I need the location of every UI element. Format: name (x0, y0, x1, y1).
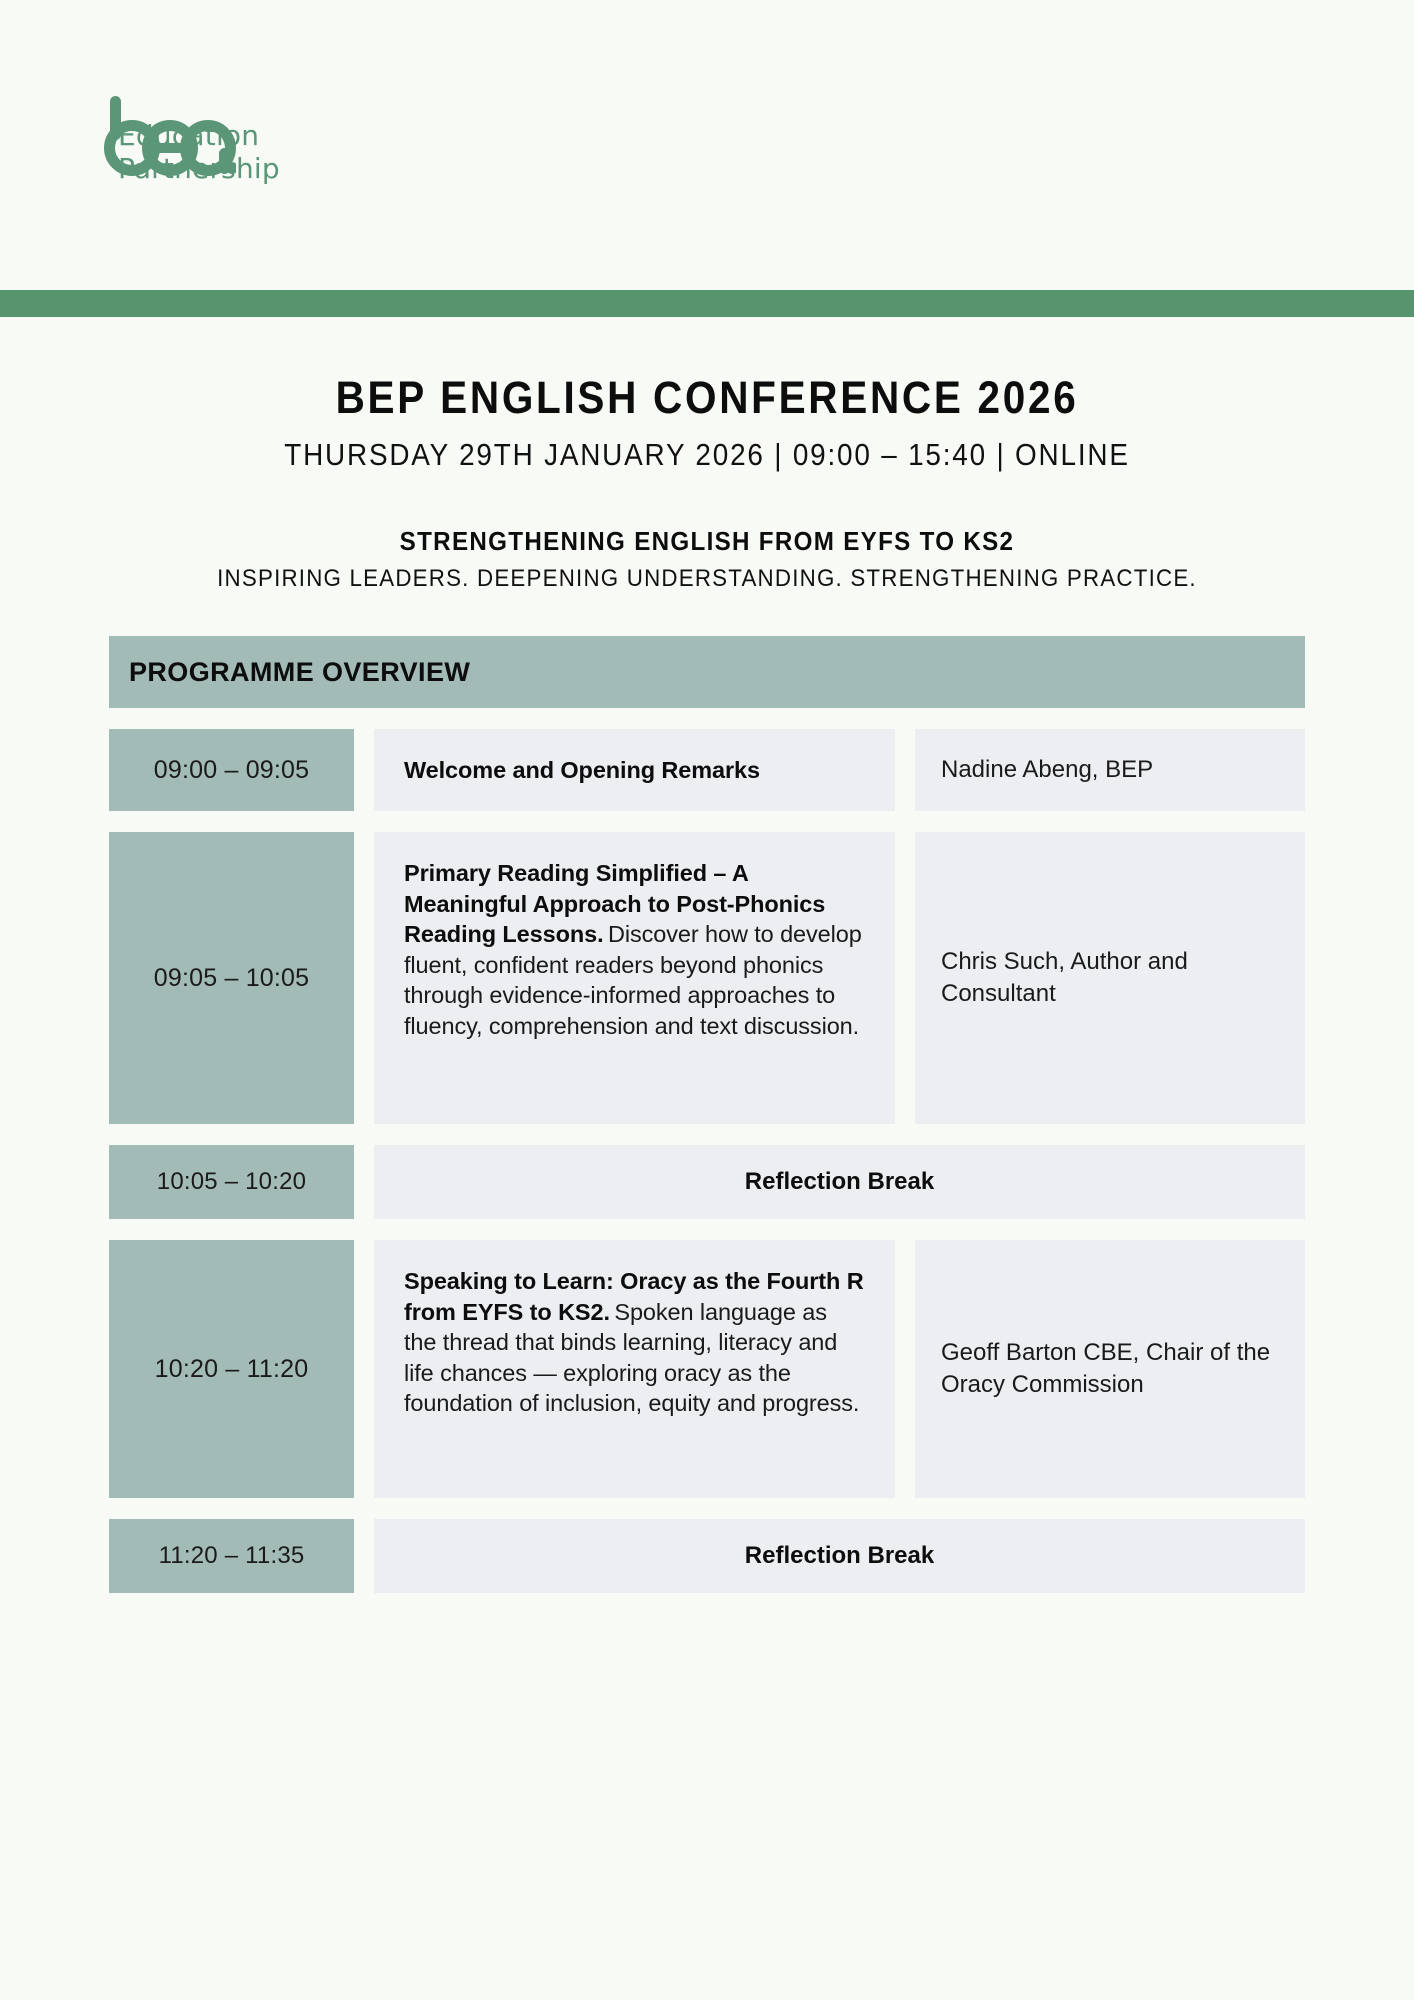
brand-wordmark: Education Partnership (118, 94, 280, 185)
row-session: Welcome and Opening Remarks (374, 729, 895, 811)
logo-header: Education Partnership (0, 0, 1414, 290)
speaker-name: Geoff Barton CBE, Chair of the Oracy Com… (941, 1337, 1279, 1401)
conference-datetime: THURSDAY 29TH JANUARY 2026 | 09:00 – 15:… (71, 437, 1344, 473)
table-row: 09:05 – 10:05 Primary Reading Simplified… (109, 832, 1305, 1124)
row-speaker: Geoff Barton CBE, Chair of the Oracy Com… (915, 1240, 1305, 1498)
programme-overview-label: PROGRAMME OVERVIEW (129, 657, 470, 688)
brand-logo: Education Partnership (104, 94, 1414, 185)
table-row: 10:20 – 11:20 Speaking to Learn: Oracy a… (109, 1240, 1305, 1498)
break-label: Reflection Break (374, 1145, 1305, 1219)
row-speaker: Chris Such, Author and Consultant (915, 832, 1305, 1124)
theme-headline: STRENGTHENING ENGLISH FROM EYFS TO KS2 (49, 526, 1364, 557)
speaker-name: Chris Such, Author and Consultant (941, 946, 1279, 1010)
table-row-break: 10:05 – 10:20 Reflection Break (109, 1145, 1305, 1219)
programme-table: PROGRAMME OVERVIEW 09:00 – 09:05 Welcome… (109, 636, 1305, 1593)
session-title: Welcome and Opening Remarks (404, 755, 760, 786)
row-time: 11:20 – 11:35 (109, 1519, 354, 1593)
row-speaker: Nadine Abeng, BEP (915, 729, 1305, 811)
row-time: 09:05 – 10:05 (109, 832, 354, 1124)
row-session: Speaking to Learn: Oracy as the Fourth R… (374, 1240, 895, 1498)
speaker-name: Nadine Abeng, BEP (941, 754, 1153, 786)
title-block: BEP ENGLISH CONFERENCE 2026 THURSDAY 29T… (0, 317, 1414, 473)
row-time: 10:20 – 11:20 (109, 1240, 354, 1498)
brand-word-education: Education (118, 119, 280, 152)
theme-block: STRENGTHENING ENGLISH FROM EYFS TO KS2 I… (0, 526, 1414, 593)
row-time: 09:00 – 09:05 (109, 729, 354, 811)
row-time: 10:05 – 10:20 (109, 1145, 354, 1219)
conference-title: BEP ENGLISH CONFERENCE 2026 (71, 372, 1344, 424)
break-label: Reflection Break (374, 1519, 1305, 1593)
brand-word-partnership: Partnership (118, 152, 280, 185)
table-row: 09:00 – 09:05 Welcome and Opening Remark… (109, 729, 1305, 811)
programme-overview-header: PROGRAMME OVERVIEW (109, 636, 1305, 708)
accent-band (0, 290, 1414, 317)
row-session: Primary Reading Simplified – A Meaningfu… (374, 832, 895, 1124)
theme-strapline: INSPIRING LEADERS. DEEPENING UNDERSTANDI… (49, 565, 1364, 593)
table-row-break: 11:20 – 11:35 Reflection Break (109, 1519, 1305, 1593)
